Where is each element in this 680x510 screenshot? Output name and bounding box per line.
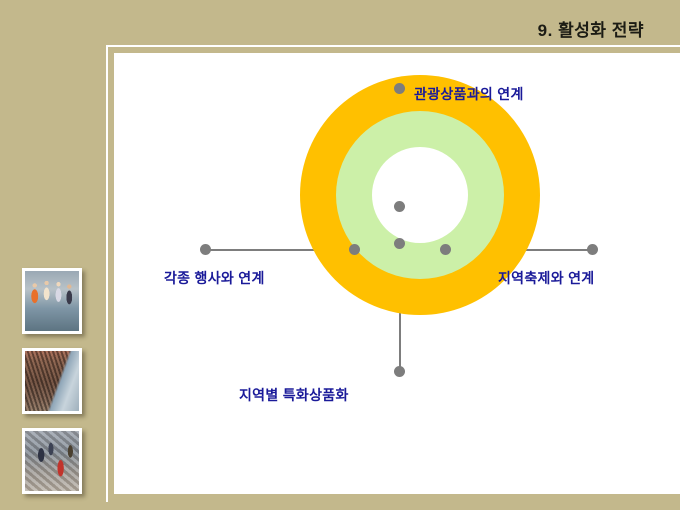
- photo-thumbnail-3[interactable]: [22, 428, 82, 494]
- page-title: 9. 활성화 전략: [538, 16, 644, 41]
- photo-strip: [22, 268, 90, 508]
- radial-hub-diagram: 관광상품과의 연계 지역축제와 연계 지역별 특화상품화 각종 행사와 연계: [139, 55, 680, 492]
- connector-dot-right-inner: [440, 244, 451, 255]
- ring-core: [372, 147, 468, 243]
- diagram-label-bottom: 지역별 특화상품화: [239, 385, 349, 405]
- connector-dot-top-inner: [394, 201, 405, 212]
- inner-ring: [336, 111, 504, 279]
- diagram-label-top: 관광상품과의 연계: [414, 84, 524, 104]
- connector-dot-bottom-outer: [394, 366, 405, 377]
- connector-dot-left-outer: [200, 244, 211, 255]
- photo-thumbnail-2[interactable]: [22, 348, 82, 414]
- connector-dot-right-outer: [587, 244, 598, 255]
- diagram-label-right: 지역축제와 연계: [498, 268, 594, 288]
- photo-thumbnail-1[interactable]: [22, 268, 82, 334]
- connector-dot-bottom-inner: [394, 238, 405, 249]
- connector-dot-top-outer: [394, 83, 405, 94]
- diagram-label-left: 각종 행사와 연계: [164, 268, 265, 288]
- market-vendors-photo: [25, 271, 79, 331]
- connector-dot-left-inner: [349, 244, 360, 255]
- flea-market-crowd-photo: [25, 431, 79, 491]
- aerial-street-market-photo: [25, 351, 79, 411]
